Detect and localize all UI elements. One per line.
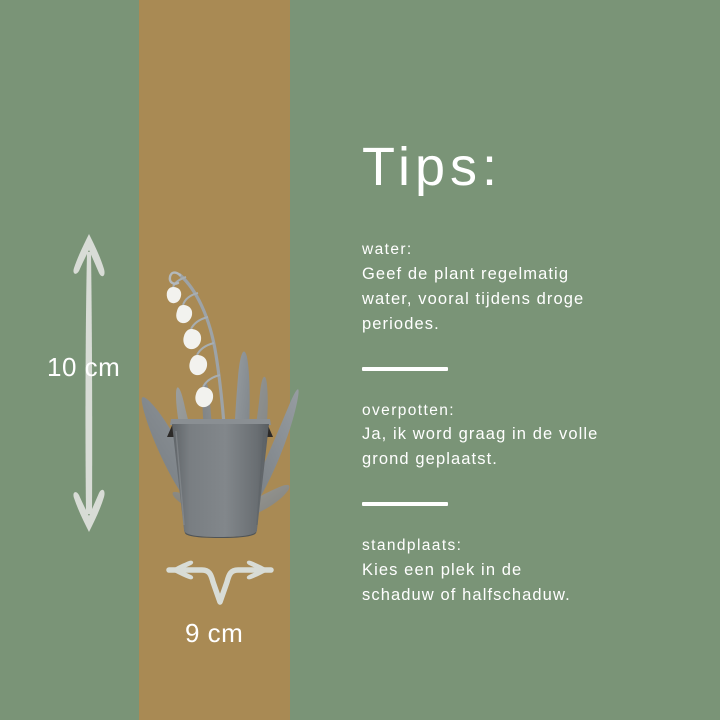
horizontal-double-arrow-icon bbox=[155, 556, 285, 608]
tip-item-standplaats: standplaats: Kies een plek in de schaduw… bbox=[362, 534, 680, 608]
product-image bbox=[140, 225, 300, 540]
tip-line-water-2: water, vooral tijdens droge bbox=[362, 287, 680, 312]
tip-line-water-1: Geef de plant regelmatig bbox=[362, 262, 680, 287]
nursery-pot bbox=[170, 419, 271, 538]
plant-illustration bbox=[140, 225, 300, 540]
tip-heading-water: water: bbox=[362, 238, 680, 262]
tips-title: Tips: bbox=[362, 140, 680, 194]
width-label: 9 cm bbox=[185, 618, 243, 649]
tip-item-water: water: Geef de plant regelmatig water, v… bbox=[362, 238, 680, 337]
tip-heading-overpotten: overpotten: bbox=[362, 399, 680, 423]
height-label: 10 cm bbox=[47, 352, 120, 383]
tips-panel: Tips: water: Geef de plant regelmatig wa… bbox=[360, 140, 680, 608]
vertical-double-arrow-icon bbox=[58, 228, 122, 538]
height-arrow bbox=[58, 228, 122, 538]
tip-line-overpotten-2: grond geplaatst. bbox=[362, 447, 680, 472]
tip-line-standplaats-1: Kies een plek in de bbox=[362, 558, 680, 583]
tip-divider-1 bbox=[362, 367, 448, 371]
tip-line-water-3: periodes. bbox=[362, 312, 680, 337]
tip-heading-standplaats: standplaats: bbox=[362, 534, 680, 558]
tip-divider-2 bbox=[362, 502, 448, 506]
tip-item-overpotten: overpotten: Ja, ik word graag in de voll… bbox=[362, 399, 680, 473]
infographic-canvas: 10 cm 9 cm Tips: water: Geef de plant re… bbox=[0, 0, 720, 720]
tip-line-standplaats-2: schaduw of halfschaduw. bbox=[362, 583, 680, 608]
width-arrow bbox=[155, 556, 285, 608]
tip-line-overpotten-1: Ja, ik word graag in de volle bbox=[362, 422, 680, 447]
